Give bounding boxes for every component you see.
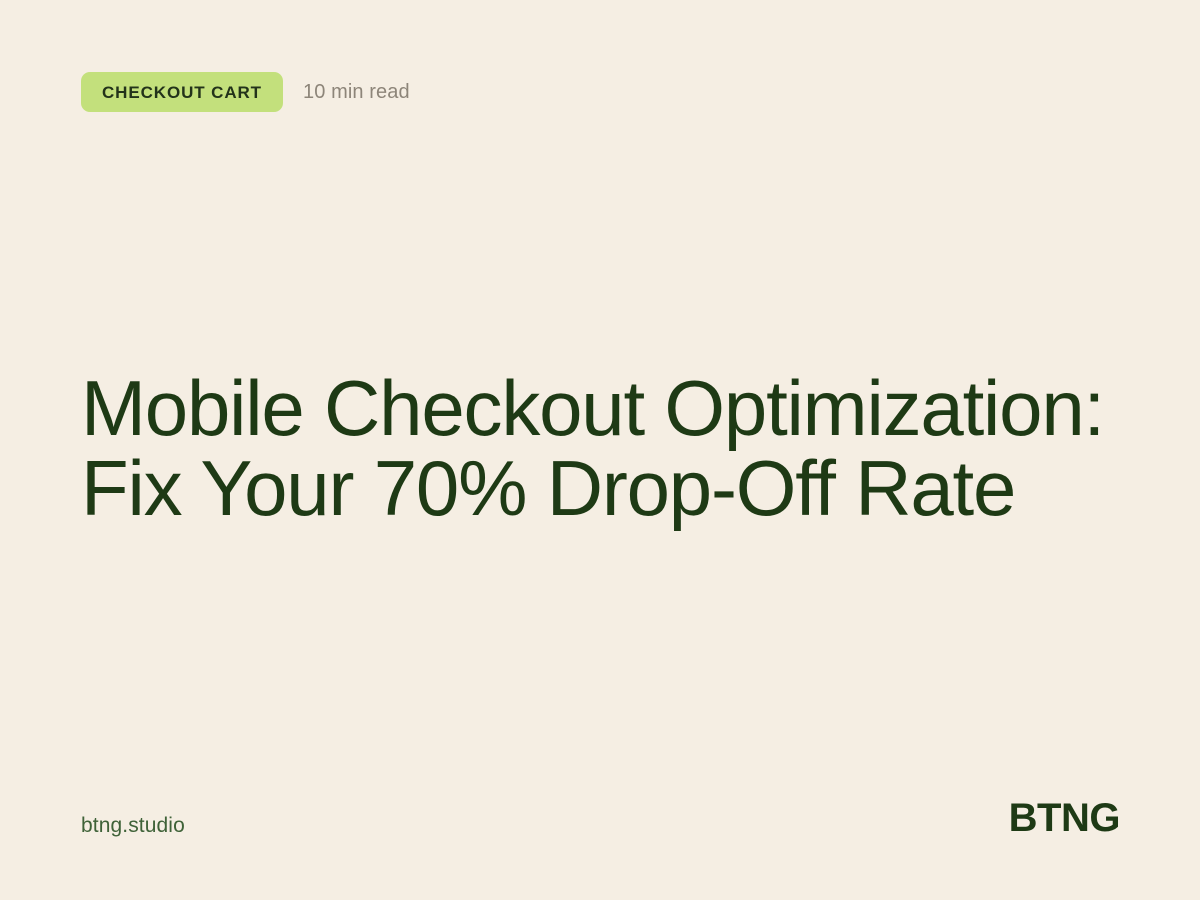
brand-logo: BTNG xyxy=(1009,798,1120,838)
page-title-line-2: Fix Your 70% Drop-Off Rate xyxy=(81,448,1104,528)
page-title-line-1: Mobile Checkout Optimization: xyxy=(81,368,1104,448)
read-time-label: 10 min read xyxy=(303,81,410,104)
card-footer: btng.studio BTNG xyxy=(81,798,1120,838)
page-title: Mobile Checkout Optimization: Fix Your 7… xyxy=(81,368,1104,528)
category-badge[interactable]: CHECKOUT CART xyxy=(81,72,283,112)
article-cover-card: CHECKOUT CART 10 min read Mobile Checkou… xyxy=(0,0,1200,900)
site-url-label[interactable]: btng.studio xyxy=(81,814,185,838)
article-meta-row: CHECKOUT CART 10 min read xyxy=(81,72,410,112)
